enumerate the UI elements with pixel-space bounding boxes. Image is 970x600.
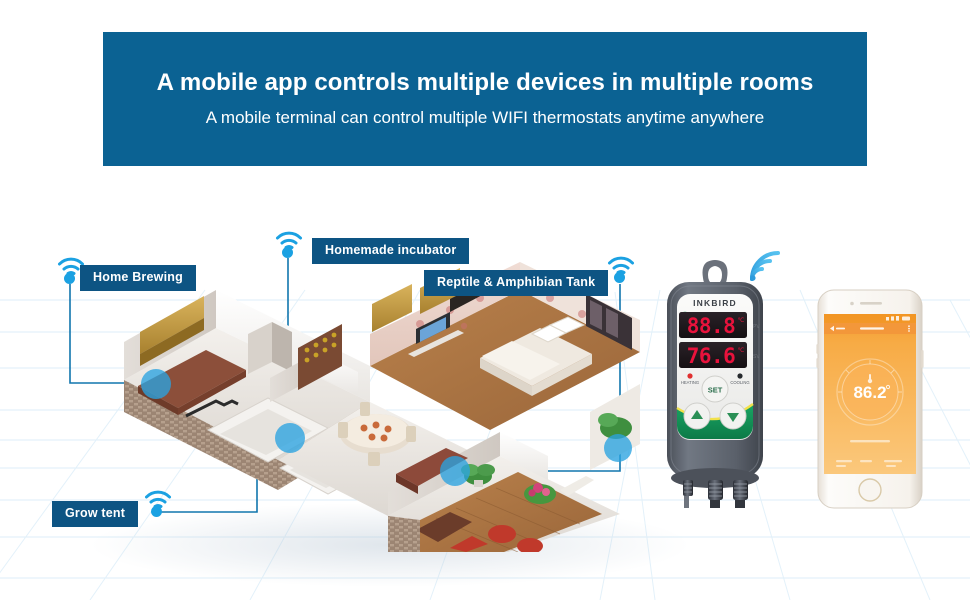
hotspot-dot-grow-tent (151, 506, 162, 517)
phone-power-button[interactable] (921, 350, 923, 368)
floorplan-illustration (120, 262, 640, 552)
tag-grow-tent[interactable]: Grow tent (52, 501, 138, 527)
device-sv-tag: SV (753, 354, 760, 360)
phone-temperature-value: 86.2 (853, 383, 886, 402)
device-sv-unit: ℃ (738, 348, 745, 354)
phone-home-button[interactable] (859, 479, 881, 501)
hotspot-dot-reptile-tank (614, 272, 625, 283)
phone-camera-icon (850, 302, 854, 306)
thermostat-device: INKBIRD 88.8 ℃ PV 76.6 ℃ SV HEATING COOL… (655, 258, 775, 508)
phone-earpiece (860, 302, 882, 305)
device-cords (683, 480, 748, 508)
tag-reptile-tank[interactable]: Reptile & Amphibian Tank (424, 270, 608, 296)
phone-volume-up-button[interactable] (816, 344, 818, 354)
device-pv-tag: PV (753, 324, 760, 330)
device-pv-value: 88.8 (687, 314, 736, 338)
poster-canvas: A mobile app controls multiple devices i… (0, 0, 970, 600)
phone-volume-down-button[interactable] (816, 358, 818, 368)
device-sv-value: 76.6 (687, 344, 736, 368)
hotspot-dot-homemade-incubator (282, 247, 293, 258)
cooling-label: COOLING (730, 380, 749, 385)
smartphone-mockup: 86.2 (816, 288, 924, 510)
heating-led (687, 373, 692, 378)
device-brand-label: INKBIRD (693, 298, 737, 308)
tag-home-brewing[interactable]: Home Brewing (80, 265, 196, 291)
set-button-label: SET (708, 386, 723, 395)
device-pv-unit: ℃ (738, 318, 745, 324)
cooling-led (737, 373, 742, 378)
heating-label: HEATING (681, 380, 699, 385)
tag-homemade-incubator[interactable]: Homemade incubator (312, 238, 469, 264)
hotspot-dot-home-brewing (64, 273, 75, 284)
